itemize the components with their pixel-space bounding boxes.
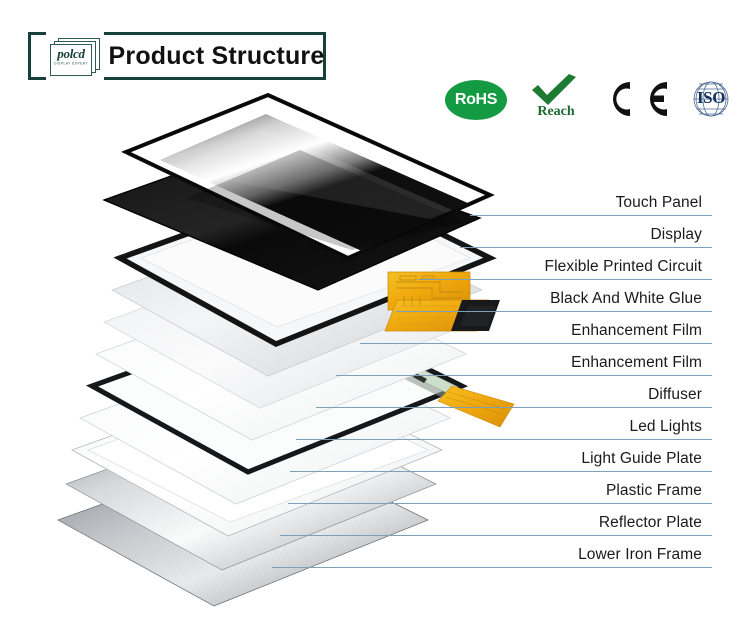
- callout-label: Display: [650, 226, 702, 244]
- ce-mark-glyph: [605, 78, 675, 120]
- callout-label: Enhancement Film: [571, 354, 702, 372]
- callout-label: Plastic Frame: [606, 482, 702, 500]
- checkmark-icon: [531, 74, 577, 106]
- reach-icon: Reach: [525, 74, 587, 132]
- callout-label: Touch Panel: [616, 194, 702, 212]
- callout-label: Led Lights: [629, 418, 702, 436]
- reach-label: Reach: [525, 104, 587, 120]
- iso-label: ISO: [685, 88, 737, 108]
- callout-label: Light Guide Plate: [581, 450, 702, 468]
- layer-stack-svg: [0, 0, 520, 636]
- ce-icon: [605, 78, 675, 120]
- exploded-layer-diagram: [0, 0, 520, 636]
- iso-icon: ISO: [685, 77, 737, 121]
- callout-label: Enhancement Film: [571, 322, 702, 340]
- callout-label: Lower Iron Frame: [578, 546, 702, 564]
- callout-label: Diffuser: [648, 386, 702, 404]
- callout-label: Reflector Plate: [599, 514, 702, 532]
- callout-label: Flexible Printed Circuit: [545, 258, 702, 276]
- callout-label: Black And White Glue: [550, 290, 702, 308]
